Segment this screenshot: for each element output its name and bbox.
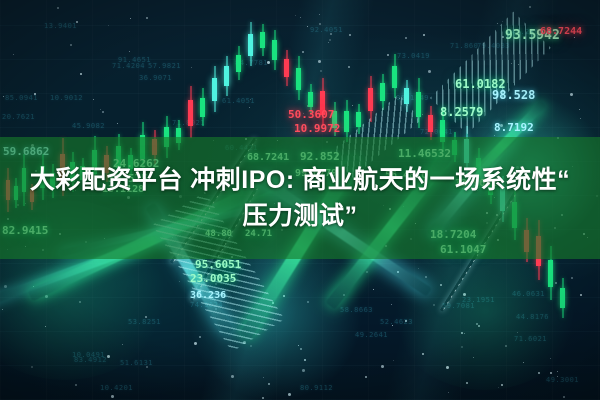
- headline-line-2: 压力测试”: [242, 199, 357, 233]
- headline-line-1: 大彩配资平台 冲刺IPO: 商业航天的一场系统性“: [16, 163, 584, 197]
- headline-block: 大彩配资平台 冲刺IPO: 商业航天的一场系统性“ 压力测试”: [0, 137, 600, 259]
- stock-banner-image: 13.940191.465171.420492.405184.778157.98…: [0, 0, 600, 400]
